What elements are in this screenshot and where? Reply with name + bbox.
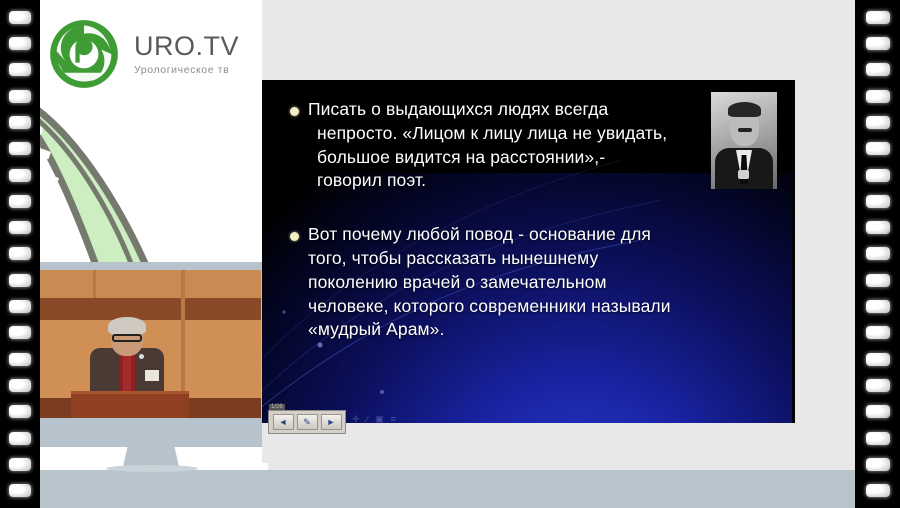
menu-icon[interactable]: ≡ [391, 414, 396, 425]
film-strip-left [0, 0, 40, 508]
film-perforation [9, 11, 31, 24]
portrait-mustache [738, 128, 752, 132]
slide-paragraph-1-text: Писать о выдающихся людях всегда непрост… [308, 98, 668, 193]
speaker-glasses-icon [112, 334, 142, 342]
hall-wall-seam-2 [93, 270, 96, 298]
portrait-hair [728, 102, 761, 117]
presentation-slide[interactable]: Писать о выдающихся людях всегда непрост… [262, 80, 795, 423]
hall-wall-band [35, 298, 261, 320]
film-perforation [866, 11, 890, 24]
brand-logo[interactable]: URO.TV Урологическое тв [48, 14, 258, 94]
uro-swirl-logo-icon [48, 18, 120, 90]
video-screen[interactable] [35, 270, 261, 418]
portrait-medal-icon [738, 170, 749, 179]
film-perforation [9, 274, 31, 287]
film-perforation [866, 116, 890, 129]
screen-icon[interactable]: ▣ [375, 414, 384, 425]
film-perforation [866, 458, 890, 471]
film-perforation [9, 326, 31, 339]
brand-title: URO.TV [134, 32, 239, 60]
film-perforation [9, 432, 31, 445]
film-perforation [9, 142, 31, 155]
film-perforation [9, 247, 31, 260]
film-perforation [9, 353, 31, 366]
film-perforation [866, 195, 890, 208]
speaker-hair [108, 317, 146, 335]
monitor-stand-neck [123, 447, 179, 467]
film-perforation [866, 353, 890, 366]
pen-icon[interactable]: ∕ [367, 414, 369, 425]
monitor-stand-base [106, 465, 198, 472]
film-perforation [866, 326, 890, 339]
film-perforation [9, 37, 31, 50]
film-perforation [9, 405, 31, 418]
bullet-point-icon [290, 107, 299, 116]
film-perforation [866, 142, 890, 155]
film-perforation [9, 379, 31, 392]
brand-subtitle: Урологическое тв [134, 64, 239, 76]
film-perforation [9, 300, 31, 313]
film-perforation [866, 379, 890, 392]
film-perforation [9, 221, 31, 234]
next-slide-button[interactable]: ► [321, 414, 342, 430]
film-perforation [9, 63, 31, 76]
film-perforation [9, 458, 31, 471]
slideshow-toolbar[interactable]: ◄ ✎ ► [268, 410, 346, 434]
film-perforation [866, 221, 890, 234]
film-perforation [866, 432, 890, 445]
film-perforation [9, 90, 31, 103]
hall-wall-upper [35, 270, 261, 298]
slide-paragraph-2: Вот почему любой повод - основание для т… [290, 223, 785, 342]
film-perforation [866, 405, 890, 418]
slide-counter: 1/26 [269, 404, 285, 410]
film-perforation [866, 274, 890, 287]
film-perforation [9, 484, 31, 497]
film-perforation [9, 195, 31, 208]
screenshot-root: URO.TV Урологическое тв [0, 0, 900, 508]
film-perforation [866, 37, 890, 50]
speaker-tie [123, 356, 131, 392]
lecture-video-monitor[interactable] [28, 262, 268, 447]
film-perforation [866, 90, 890, 103]
film-strip-right [855, 0, 900, 508]
slideshow-ghost-controls[interactable]: ✛ ∕ ▣ ≡ [352, 414, 396, 425]
bottom-blue-gray-bar [28, 470, 860, 508]
speaker-name-badge [145, 370, 159, 381]
historical-portrait-photo [711, 92, 777, 189]
film-perforation [9, 116, 31, 129]
film-perforation [866, 169, 890, 182]
pointer-icon[interactable]: ✛ [352, 414, 360, 425]
film-perforation [866, 63, 890, 76]
slide-paragraph-2-text: Вот почему любой повод - основание для т… [308, 223, 680, 342]
pen-tool-button[interactable]: ✎ [297, 414, 318, 430]
film-perforation [866, 247, 890, 260]
film-perforation [866, 300, 890, 313]
hall-wall-seam [181, 270, 185, 398]
bullet-point-icon [290, 232, 299, 241]
film-perforation [866, 484, 890, 497]
speaker-lapel-pin [139, 354, 144, 359]
film-perforation [9, 169, 31, 182]
previous-slide-button[interactable]: ◄ [273, 414, 294, 430]
podium [71, 391, 189, 418]
